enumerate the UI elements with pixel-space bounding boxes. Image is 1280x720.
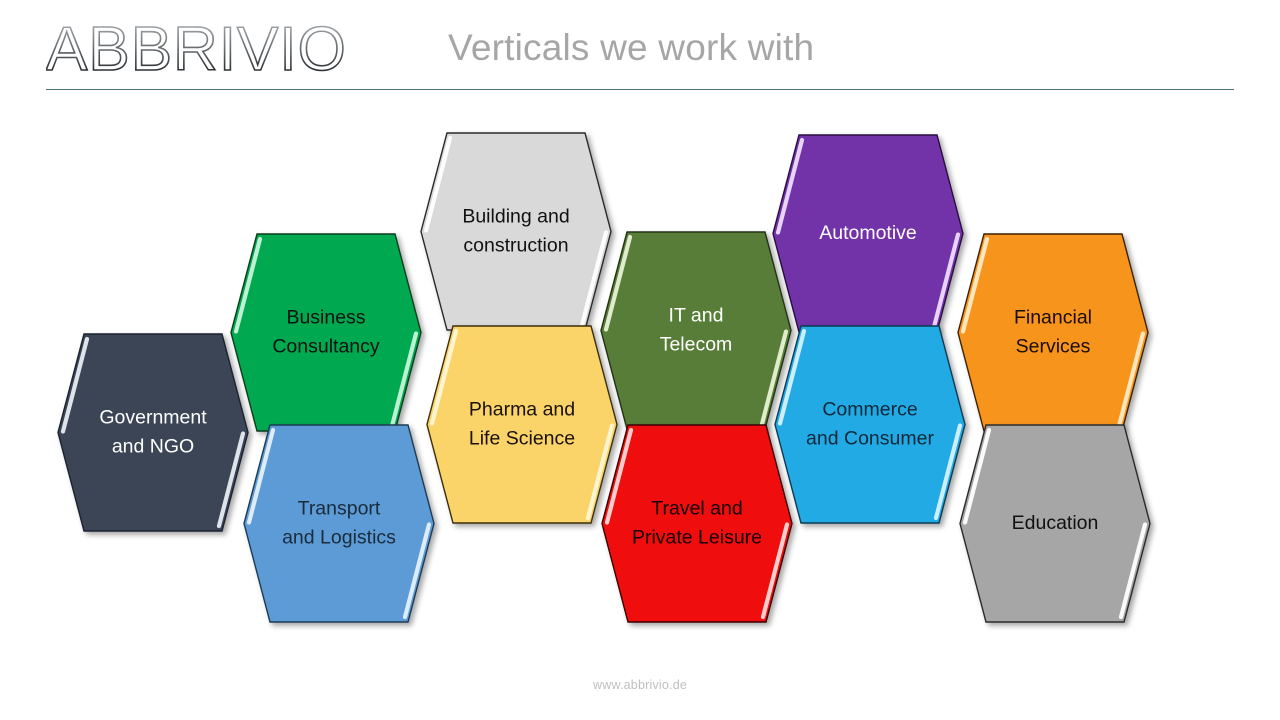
hexagon-it-and-telecom[interactable]: IT and Telecom bbox=[601, 232, 791, 429]
hexagon-diagram: Government and NGOBusiness ConsultancyTr… bbox=[0, 0, 1280, 720]
hexagon-shape bbox=[775, 326, 965, 523]
hexagon-shape bbox=[421, 133, 611, 330]
hexagon-education[interactable]: Education bbox=[960, 425, 1150, 622]
hexagon-building-and-construction[interactable]: Building and construction bbox=[421, 133, 611, 330]
hexagon-travel-and-private-leisure[interactable]: Travel and Private Leisure bbox=[602, 425, 792, 622]
footer-url: www.abbrivio.de bbox=[0, 678, 1280, 692]
hexagon-shape bbox=[602, 425, 792, 622]
hexagon-commerce-and-consumer[interactable]: Commerce and Consumer bbox=[775, 326, 965, 523]
hexagon-shape bbox=[231, 234, 421, 431]
hexagon-business-consultancy[interactable]: Business Consultancy bbox=[231, 234, 421, 431]
hexagon-financial-services[interactable]: Financial Services bbox=[958, 234, 1148, 431]
hexagon-government-and-ngo[interactable]: Government and NGO bbox=[58, 334, 248, 531]
hexagon-shape bbox=[427, 326, 617, 523]
hexagon-transport-and-logistics[interactable]: Transport and Logistics bbox=[244, 425, 434, 622]
hexagon-shape bbox=[244, 425, 434, 622]
slide-canvas: ABBRIVIO Verticals we work with Governme… bbox=[0, 0, 1280, 720]
hexagon-pharma-and-life-science[interactable]: Pharma and Life Science bbox=[427, 326, 617, 523]
hexagon-shape bbox=[58, 334, 248, 531]
hexagon-shape bbox=[601, 232, 791, 429]
hexagon-shape bbox=[960, 425, 1150, 622]
hexagon-shape bbox=[958, 234, 1148, 431]
hexagon-shape bbox=[773, 135, 963, 332]
hexagon-automotive[interactable]: Automotive bbox=[773, 135, 963, 332]
